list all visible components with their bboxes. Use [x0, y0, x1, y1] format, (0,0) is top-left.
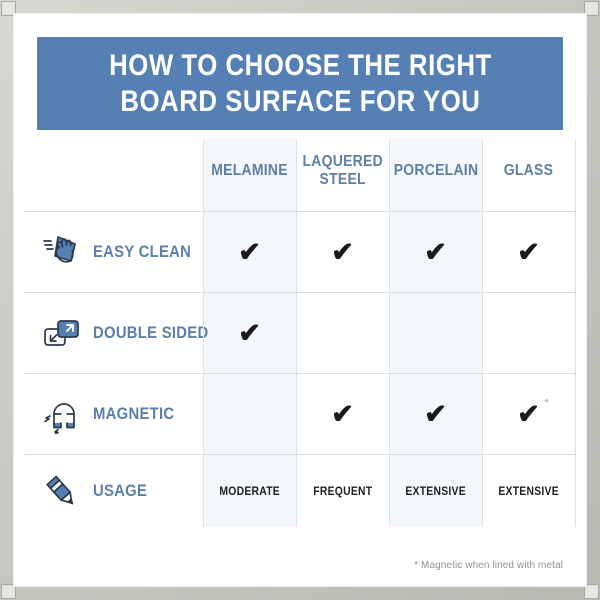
check-icon: ✔: [331, 401, 354, 428]
usage-value: EXTENSIVE: [498, 486, 559, 498]
row-label-inner: EASY CLEAN: [41, 232, 203, 272]
row-label-cell-double-sided: DOUBLE SIDED: [25, 293, 203, 373]
table-corner-cell: [25, 139, 203, 211]
title-banner: HOW TO CHOOSE THE RIGHT BOARD SURFACE FO…: [37, 37, 563, 130]
row-label-text: EASY CLEAN: [93, 243, 191, 262]
usage-value: FREQUENT: [313, 486, 372, 498]
check-icon: ✔: [517, 239, 540, 266]
cell-easy-clean-laquered: ✔: [296, 212, 389, 292]
table-header: MELAMINELAQUEREDSTEELPORCELAINGLASS: [25, 139, 575, 211]
magnet-icon: [41, 394, 81, 434]
marker-pen-icon: [41, 471, 81, 511]
table-row-usage: USAGEMODERATEFREQUENTEXTENSIVEEXTENSIVE: [25, 455, 575, 527]
cell-magnetic-melamine: [203, 374, 296, 454]
check-icon: ✔: [424, 401, 447, 428]
whiteboard-frame: HOW TO CHOOSE THE RIGHT BOARD SURFACE FO…: [0, 0, 600, 600]
cell-easy-clean-porcelain: ✔: [389, 212, 482, 292]
cell-magnetic-porcelain: ✔: [389, 374, 482, 454]
cell-usage-porcelain: EXTENSIVE: [389, 455, 482, 527]
footnote-text: * Magnetic when lined with metal: [414, 560, 563, 571]
table-header-row: MELAMINELAQUEREDSTEELPORCELAINGLASS: [25, 139, 575, 211]
cell-double-sided-glass: [482, 293, 575, 373]
title-line-1: HOW TO CHOOSE THE RIGHT: [109, 48, 492, 83]
column-header-porcelain: PORCELAIN: [389, 139, 482, 211]
column-header-label: LAQUEREDSTEEL: [302, 153, 382, 188]
column-header-melamine: MELAMINE: [203, 139, 296, 211]
row-label-cell-magnetic: MAGNETIC: [25, 374, 203, 454]
column-header-label: GLASS: [504, 162, 553, 179]
column-separator-end: [575, 139, 576, 527]
title-line-2: BOARD SURFACE FOR YOU: [120, 84, 480, 119]
column-header-label: MELAMINE: [211, 162, 288, 179]
check-icon: ✔: [238, 320, 261, 347]
row-label-inner: DOUBLE SIDED: [41, 313, 203, 353]
row-label-cell-usage: USAGE: [25, 455, 203, 527]
cell-double-sided-laquered: [296, 293, 389, 373]
check-icon: ✔: [424, 239, 447, 266]
table-row-easy-clean: EASY CLEAN✔✔✔✔: [25, 212, 575, 292]
cell-usage-laquered: FREQUENT: [296, 455, 389, 527]
column-header-label: PORCELAIN: [394, 162, 479, 179]
row-label-text: MAGNETIC: [93, 405, 174, 424]
row-label-inner: USAGE: [41, 471, 203, 511]
cell-double-sided-melamine: ✔: [203, 293, 296, 373]
row-label-text: USAGE: [93, 482, 147, 501]
check-icon: ✔: [331, 239, 354, 266]
column-header-laquered: LAQUEREDSTEEL: [296, 139, 389, 211]
cell-usage-glass: EXTENSIVE: [482, 455, 575, 527]
cell-magnetic-glass: ✔*: [482, 374, 575, 454]
cell-easy-clean-glass: ✔: [482, 212, 575, 292]
footnote-asterisk: *: [545, 398, 549, 409]
board-comparison-table: MELAMINELAQUEREDSTEELPORCELAINGLASS EASY…: [25, 139, 575, 527]
check-icon: ✔: [238, 239, 261, 266]
row-label-text: DOUBLE SIDED: [93, 324, 208, 343]
cleaning-cloth-icon: [41, 232, 81, 272]
usage-value: EXTENSIVE: [405, 486, 466, 498]
table-row-magnetic: MAGNETIC✔✔✔*: [25, 374, 575, 454]
table-row-double-sided: DOUBLE SIDED✔: [25, 293, 575, 373]
cell-usage-melamine: MODERATE: [203, 455, 296, 527]
check-icon: ✔*: [517, 401, 540, 428]
usage-value: MODERATE: [219, 486, 280, 498]
cell-double-sided-porcelain: [389, 293, 482, 373]
row-label-inner: MAGNETIC: [41, 394, 203, 434]
cell-easy-clean-melamine: ✔: [203, 212, 296, 292]
column-header-glass: GLASS: [482, 139, 575, 211]
table-body: EASY CLEAN✔✔✔✔DOUBLE SIDED✔MAGNETIC✔✔✔*U…: [25, 211, 575, 527]
row-label-cell-easy-clean: EASY CLEAN: [25, 212, 203, 292]
board-surface: HOW TO CHOOSE THE RIGHT BOARD SURFACE FO…: [13, 13, 587, 587]
cell-magnetic-laquered: ✔: [296, 374, 389, 454]
double-sided-icon: [41, 313, 81, 353]
